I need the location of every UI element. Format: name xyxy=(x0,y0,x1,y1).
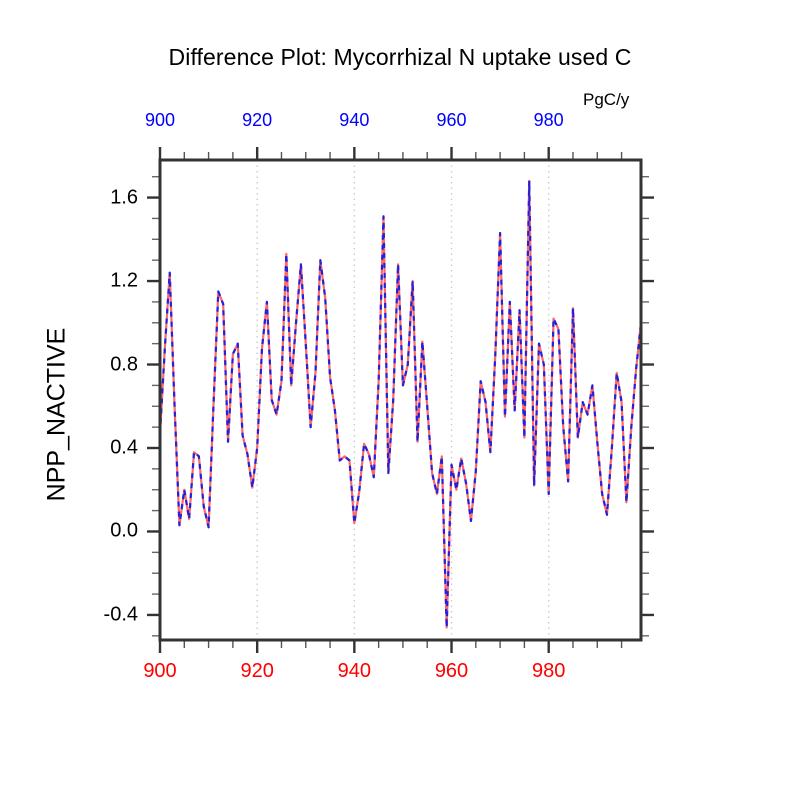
plot-canvas xyxy=(0,0,800,800)
data-line-2 xyxy=(160,181,641,628)
gridlines xyxy=(160,160,549,640)
major-ticks xyxy=(147,147,654,653)
data-line-1 xyxy=(160,181,641,628)
chart-root: Difference Plot: Mycorrhizal N uptake us… xyxy=(0,0,800,800)
plot-frame xyxy=(160,160,641,640)
data-series-layer xyxy=(160,181,641,628)
